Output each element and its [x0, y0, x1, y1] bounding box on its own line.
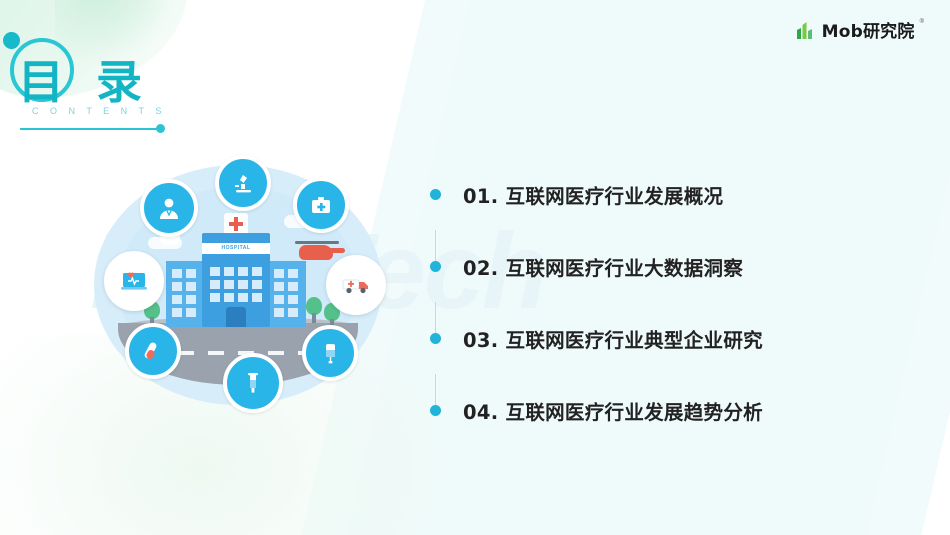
bullet-icon — [430, 405, 441, 416]
first-aid-kit-icon — [293, 177, 349, 233]
microscope-icon — [215, 155, 271, 211]
page-subtitle: C O N T E N T S — [32, 106, 166, 116]
bullet-icon — [430, 333, 441, 344]
hospital-sign: HOSPITAL — [202, 243, 270, 254]
brand-logo-text: Mob研究院 — [822, 17, 915, 42]
title-underline-dot — [156, 124, 165, 133]
doctor-icon — [140, 179, 198, 237]
internet-healthcare-illustration: HOSPITAL — [88, 145, 388, 420]
contents-item-02[interactable]: 02. 互联网医疗行业大数据洞察 — [430, 230, 900, 302]
contents-item-01[interactable]: 01. 互联网医疗行业发展概况 — [430, 158, 900, 230]
brand-logo: Mob研究院 ® — [795, 17, 924, 42]
hospital-building: HOSPITAL — [166, 227, 306, 327]
bullet-icon — [430, 261, 441, 272]
hospital-wing-left — [166, 261, 204, 327]
ambulance-icon — [326, 255, 386, 315]
contents-item-03[interactable]: 03. 互联网医疗行业典型企业研究 — [430, 302, 900, 374]
contents-item-label: 03. 互联网医疗行业典型企业研究 — [463, 324, 763, 353]
vaccine-syringe-icon — [223, 353, 283, 413]
mob-bar-chart-icon — [795, 19, 817, 41]
heart-monitor-laptop-icon — [104, 251, 164, 311]
blood-test-tube-icon — [125, 323, 181, 379]
page-title: 目 录 — [18, 46, 150, 112]
tree-icon — [306, 297, 322, 323]
contents-item-label: 02. 互联网医疗行业大数据洞察 — [463, 252, 743, 281]
medical-cross-icon — [224, 213, 248, 235]
contents-item-label: 01. 互联网医疗行业发展概况 — [463, 180, 723, 209]
contents-list: 01. 互联网医疗行业发展概况 02. 互联网医疗行业大数据洞察 03. 互联网… — [430, 158, 900, 446]
contents-item-04[interactable]: 04. 互联网医疗行业发展趋势分析 — [430, 374, 900, 446]
slide: MobTech 目 录 C O N T E N T S Mob研究院 ® — [0, 0, 950, 535]
brand-trademark: ® — [920, 19, 924, 25]
hospital-wing-right — [268, 261, 306, 327]
hospital-entrance — [226, 307, 246, 327]
contents-item-label: 04. 互联网医疗行业发展趋势分析 — [463, 396, 763, 425]
iv-drip-icon — [302, 325, 358, 381]
bullet-icon — [430, 189, 441, 200]
title-underline — [20, 128, 160, 130]
